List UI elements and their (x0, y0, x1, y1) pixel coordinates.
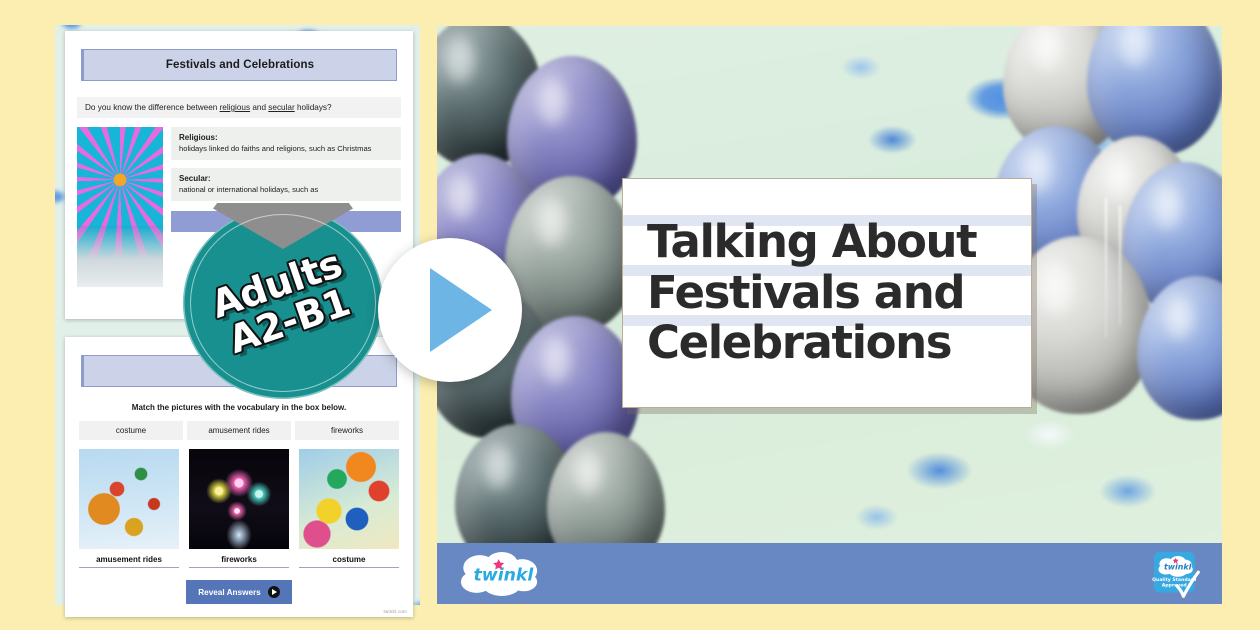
vocab-chip[interactable]: fireworks (295, 421, 399, 440)
balloon (511, 316, 639, 468)
costume-photo (299, 449, 399, 549)
amusement-rides-photo (79, 449, 179, 549)
picture-cell: costume (299, 449, 399, 568)
quality-badge-icon: twinkl Quality Standard Approved (1152, 548, 1202, 600)
ferris-wheel-photo (77, 127, 163, 287)
vocab-chip-row: costume amusement rides fireworks (79, 421, 399, 440)
twinkl-url-text: twinkl.com (384, 609, 407, 614)
svg-text:twinkl: twinkl (474, 565, 535, 585)
card1-question-strip: Do you know the difference between relig… (77, 97, 401, 118)
twinkl-logo: twinkl (457, 552, 545, 596)
balloon (1123, 162, 1222, 314)
definition-religious: Religious: holidays linked do faiths and… (171, 127, 401, 160)
balloon-ribbon (1105, 198, 1107, 338)
quality-standard-approved-badge: twinkl Quality Standard Approved (1152, 548, 1202, 600)
slide-footer-bar: twinkl twinkl Quality Standard (437, 543, 1222, 604)
definition-secular-text: national or international holidays, such… (179, 185, 318, 194)
reveal-answers-label: Reveal Answers (198, 588, 261, 597)
card1-question-mid: and (250, 103, 268, 112)
preview-thumbnails-column: Festivals and Celebrations Do you know t… (55, 25, 420, 605)
card1-question-prefix: Do you know the difference between (85, 103, 220, 112)
balloon (455, 424, 579, 543)
picture-answer-label: amusement rides (79, 549, 179, 568)
reveal-answers-row: Reveal Answers (65, 580, 413, 604)
balloon (1003, 26, 1129, 154)
definition-religious-text: holidays linked do faiths and religions,… (179, 144, 371, 153)
svg-text:twinkl: twinkl (1164, 562, 1192, 571)
slide-title-line-3: Celebrations (647, 318, 1007, 368)
card1-question-suffix: holidays? (295, 103, 332, 112)
age-level-badge: Adults A2-B1 (183, 207, 383, 399)
reveal-answers-button[interactable]: Reveal Answers (186, 580, 292, 604)
picture-cell: amusement rides (79, 449, 179, 568)
picture-answer-label: fireworks (189, 549, 289, 568)
slide-title-line-2: Festivals and (647, 268, 1007, 318)
picture-answer-label: costume (299, 549, 399, 568)
fireworks-photo (189, 449, 289, 549)
balloon (505, 176, 637, 334)
balloon (437, 26, 543, 168)
vocab-chip[interactable]: amusement rides (187, 421, 291, 440)
twinkl-cloud-icon: twinkl (457, 552, 545, 596)
balloon (1137, 276, 1222, 420)
picture-cell: fireworks (189, 449, 289, 568)
card1-question-word-secular: secular (268, 103, 294, 112)
definition-secular: Secular: national or international holid… (171, 168, 401, 201)
play-triangle-icon (430, 268, 492, 352)
play-icon (268, 586, 280, 598)
card1-title-bar: Festivals and Celebrations (81, 49, 397, 81)
svg-text:Approved: Approved (1162, 583, 1187, 589)
balloon (1087, 26, 1222, 156)
picture-row: amusement rides fireworks costume (79, 449, 399, 568)
balloon (507, 56, 637, 212)
balloon (1077, 136, 1197, 280)
balloon (547, 432, 665, 543)
definition-religious-term: Religious: (179, 133, 218, 142)
play-video-button[interactable] (378, 238, 522, 382)
balloon-ribbon (1119, 206, 1121, 326)
badge-text-group: Adults A2-B1 (157, 180, 409, 427)
slide-title-box: Talking About Festivals and Celebrations (622, 178, 1032, 408)
card1-question-word-religious: religious (220, 103, 251, 112)
definition-secular-term: Secular: (179, 174, 211, 183)
slide-title-line-1: Talking About (647, 217, 1007, 267)
main-slide-preview[interactable]: Talking About Festivals and Celebrations… (437, 26, 1222, 604)
vocab-chip[interactable]: costume (79, 421, 183, 440)
card1-title: Festivals and Celebrations (166, 59, 314, 71)
